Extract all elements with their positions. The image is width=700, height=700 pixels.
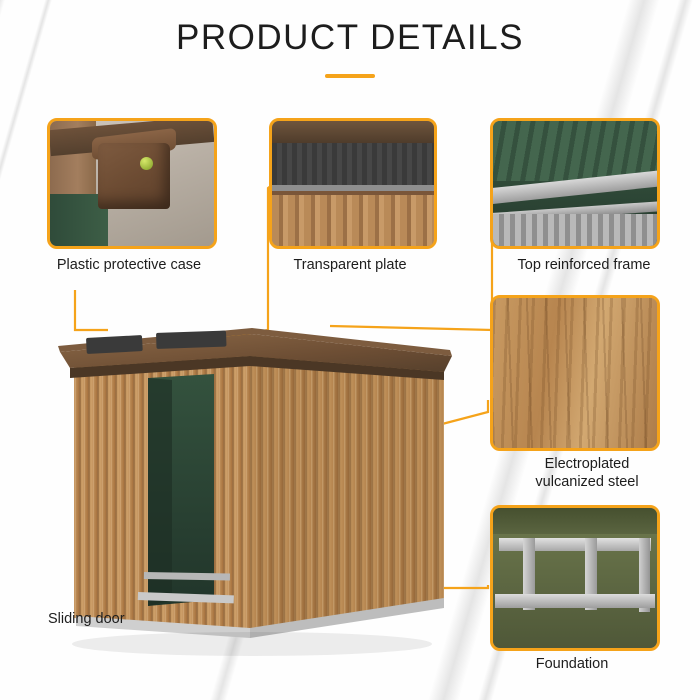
callout-label-sliding-door: Sliding door (48, 610, 158, 628)
callout-label-top-reinforced-frame: Top reinforced frame (484, 256, 684, 274)
callout-label-plastic-protective-case: Plastic protective case (13, 256, 245, 274)
callout-thumb-plastic-protective-case (47, 118, 217, 249)
title-underline-accent (325, 74, 375, 78)
callout-label-transparent-plate: Transparent plate (268, 256, 432, 274)
callout-thumb-electroplated-vulcanized-steel (490, 295, 660, 451)
callout-thumb-top-reinforced-frame (490, 118, 660, 249)
callout-label-foundation: Foundation (512, 655, 632, 673)
shed-illustration (52, 300, 452, 660)
callout-thumb-transparent-plate (269, 118, 437, 249)
product-details-page: PRODUCT DETAILS (0, 0, 700, 700)
callout-thumb-foundation (490, 505, 660, 651)
page-title: PRODUCT DETAILS (0, 18, 700, 58)
callout-label-electroplated-vulcanized-steel: Electroplated vulcanized steel (512, 455, 662, 491)
